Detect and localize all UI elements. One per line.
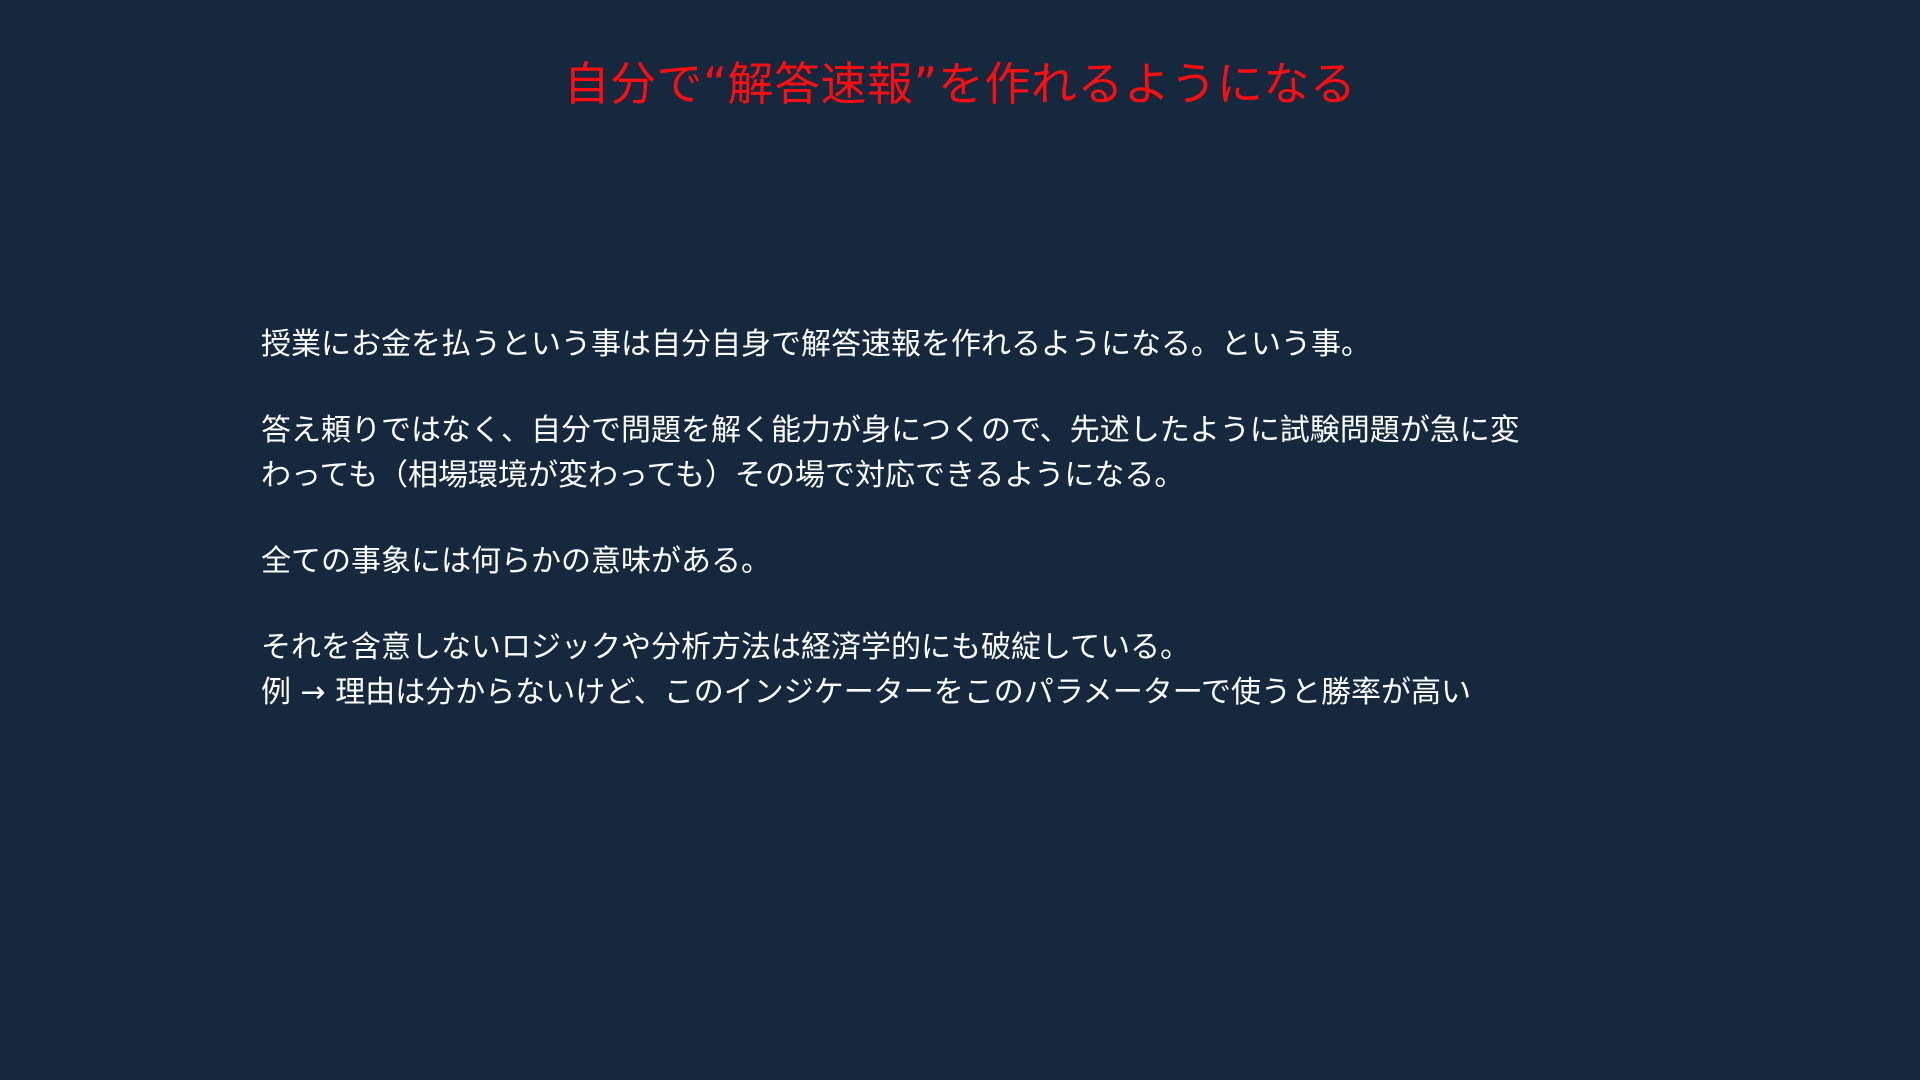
paragraph-2-line-1: 答え頼りではなく、自分で問題を解く能力が身につくので、先述したように試験問題が急…: [261, 408, 1651, 453]
slide-canvas: 自分で“解答速報”を作れるようになる 授業にお金を払うという事は自分自身で解答速…: [0, 0, 1920, 1080]
paragraph-4-line-1: それを含意しないロジックや分析方法は経済学的にも破綻している。: [261, 625, 1661, 670]
body-paragraph-3: 全ての事象には何らかの意味がある。: [261, 539, 1661, 584]
paragraph-4-line-2: 例 → 理由は分からないけど、このインジケーターをこのパラメーターで使うと勝率が…: [261, 670, 1661, 715]
paragraph-3-line-1: 全ての事象には何らかの意味がある。: [261, 539, 1661, 584]
body-paragraph-2: 答え頼りではなく、自分で問題を解く能力が身につくので、先述したように試験問題が急…: [261, 408, 1651, 498]
body-paragraph-1: 授業にお金を払うという事は自分自身で解答速報を作れるようになる。という事。: [261, 322, 1661, 367]
paragraph-1-line-1: 授業にお金を払うという事は自分自身で解答速報を作れるようになる。という事。: [261, 322, 1661, 367]
slide-body: 授業にお金を払うという事は自分自身で解答速報を作れるようになる。という事。 答え…: [261, 322, 1661, 715]
paragraph-2-line-2: わっても（相場環境が変わっても）その場で対応できるようになる。: [261, 453, 1651, 498]
body-paragraph-4: それを含意しないロジックや分析方法は経済学的にも破綻している。 例 → 理由は分…: [261, 625, 1661, 715]
slide-title: 自分で“解答速報”を作れるようになる: [0, 56, 1920, 114]
